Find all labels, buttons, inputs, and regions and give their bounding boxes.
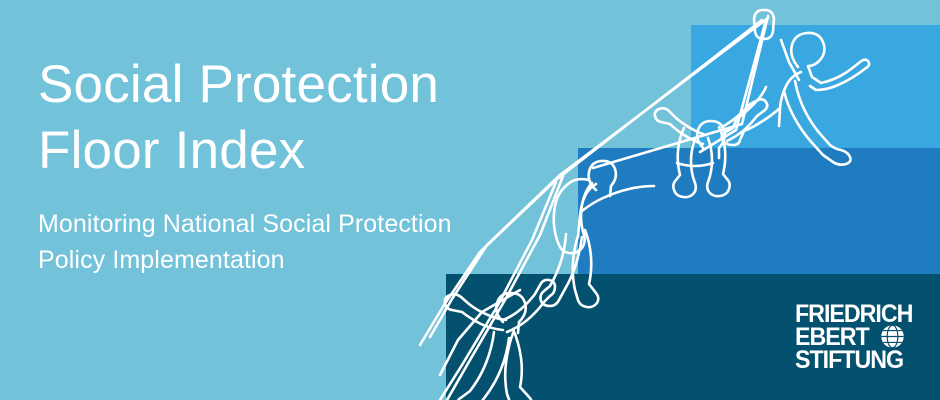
globe-icon	[880, 324, 905, 349]
cover-title: Social Protection Floor Index	[38, 52, 558, 184]
friedrich-ebert-stiftung-logo: FRIEDRICH EBERT STIFTUNG	[795, 303, 920, 371]
title-line-1: Social Protection	[38, 52, 558, 118]
title-line-2: Floor Index	[38, 118, 558, 184]
publication-cover-banner: Social Protection Floor Index Monitoring…	[0, 0, 940, 400]
logo-line-stiftung: STIFTUNG	[795, 349, 911, 372]
subtitle-line-1: Monitoring National Social Protection	[38, 206, 518, 242]
cover-subtitle: Monitoring National Social Protection Po…	[38, 206, 518, 278]
subtitle-line-2: Policy Implementation	[38, 242, 518, 278]
color-block-middle	[578, 148, 940, 274]
color-block-top	[691, 25, 940, 148]
